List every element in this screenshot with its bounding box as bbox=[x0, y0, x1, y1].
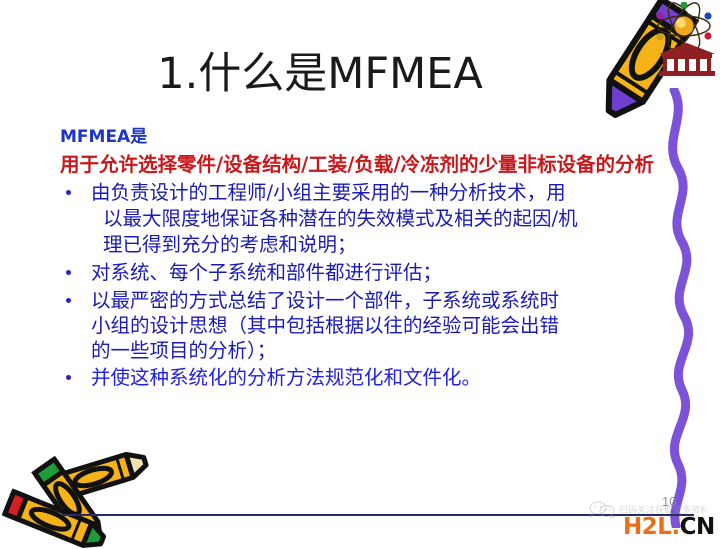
bullet-dot-icon bbox=[66, 270, 71, 275]
list-item-line: 理已得到充分的考虑和说明； bbox=[91, 232, 660, 258]
bullet-list: 由负责设计的工程师/小组主要采用的一种分析技术，用 以最大限度地保证各种潜在的失… bbox=[60, 180, 660, 391]
lead-acronym: MFMEA bbox=[60, 127, 130, 147]
list-item: 对系统、每个子系统和部件都进行评估； bbox=[60, 260, 660, 286]
list-item-line: 由负责设计的工程师/小组主要采用的一种分析技术，用 bbox=[91, 180, 660, 206]
list-item: 并使这种系统化的分析方法规范化和文件化。 bbox=[60, 365, 660, 391]
list-item-line: 并使这种系统化的分析方法规范化和文件化。 bbox=[91, 365, 660, 391]
list-item-line: 对系统、每个子系统和部件都进行评估； bbox=[91, 260, 660, 286]
list-item-line: 以最严密的方式总结了设计一个部件，子系统或系统时 bbox=[91, 288, 660, 313]
list-item: 由负责设计的工程师/小组主要采用的一种分析技术，用 以最大限度地保证各种潜在的失… bbox=[60, 180, 660, 258]
page-title: 1.什么是MFMEA bbox=[0, 48, 640, 100]
list-item: 以最严密的方式总结了设计一个部件，子系统或系统时 小组的设计思想（其中包括根据以… bbox=[60, 288, 660, 363]
lead-suffix: 是 bbox=[130, 127, 147, 147]
slide-canvas: 1.什么是MFMEA MFMEA是 用于允许选择零件/设备结构/工装/负载/冷冻… bbox=[0, 0, 720, 549]
bullet-dot-icon bbox=[66, 190, 71, 195]
definition-paragraph: 用于允许选择零件/设备结构/工装/负载/冷冻剂的少量非标设备的分析 bbox=[60, 151, 656, 178]
bullet-dot-icon bbox=[66, 375, 71, 380]
bullet-dot-icon bbox=[66, 298, 71, 303]
list-item-line: 以最大限度地保证各种潜在的失效模式及相关的起因/机 bbox=[91, 206, 660, 232]
purple-squiggle-icon bbox=[612, 88, 720, 528]
brand-secondary: CN bbox=[680, 514, 715, 540]
crayons-group-icon bbox=[2, 436, 152, 548]
brand-watermark: H2L.CN bbox=[623, 514, 715, 540]
brand-primary: H2L. bbox=[623, 514, 680, 540]
list-item-line: 小组的设计思想（其中包括根据以往的经验可能会出错 bbox=[91, 313, 660, 338]
slide-body: MFMEA是 用于允许选择零件/设备结构/工装/负载/冷冻剂的少量非标设备的分析… bbox=[60, 124, 660, 393]
lead-line: MFMEA是 bbox=[60, 124, 660, 150]
temple-icon bbox=[658, 42, 716, 78]
list-item-line: 的一些项目的分析）； bbox=[91, 338, 660, 363]
